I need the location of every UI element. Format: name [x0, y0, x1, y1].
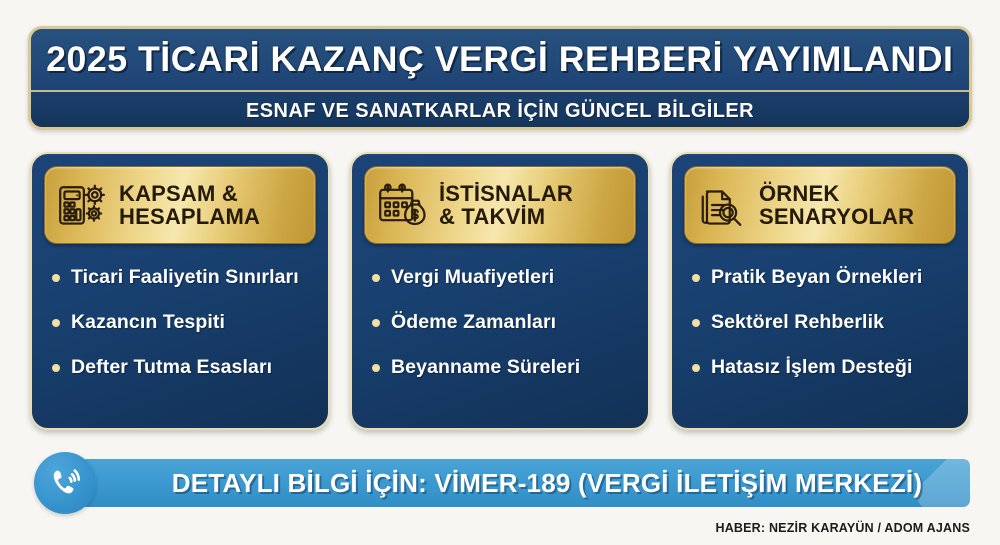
- bullet-dot-icon: [52, 319, 60, 327]
- card-title-line: KAPSAM &: [119, 182, 307, 205]
- list-item: Pratik Beyan Örnekleri: [692, 266, 954, 289]
- list-item: Kazancın Tespiti: [52, 311, 314, 334]
- card-header-badge: ÖRNEK SENARYOLAR: [684, 166, 956, 244]
- bullet-dot-icon: [692, 364, 700, 372]
- list-item-label: Vergi Muafiyetleri: [391, 266, 554, 289]
- card-header-badge: İSTİSNALAR & TAKVİM: [364, 166, 636, 244]
- list-item: Beyanname Süreleri: [372, 356, 634, 379]
- phone-ringing-icon: [34, 452, 96, 514]
- contact-banner-label: DETAYLI BİLGİ İÇİN: VİMER-189 (VERGİ İLE…: [128, 468, 922, 499]
- list-item-label: Kazancın Tespiti: [71, 311, 225, 334]
- list-item: Defter Tutma Esasları: [52, 356, 314, 379]
- card-title: ÖRNEK SENARYOLAR: [759, 182, 947, 229]
- card-title-line: İSTİSNALAR: [439, 182, 627, 205]
- credit-line: HABER: NEZİR KARAYÜN / ADOM AJANS: [715, 521, 970, 535]
- bullet-dot-icon: [372, 319, 380, 327]
- card-header-badge: KAPSAM & HESAPLAMA: [44, 166, 316, 244]
- bullet-dot-icon: [692, 319, 700, 327]
- header-title-row: 2025 TİCARİ KAZANÇ VERGİ REHBERİ YAYIMLA…: [31, 29, 969, 92]
- card-title: KAPSAM & HESAPLAMA: [119, 182, 307, 229]
- list-item-label: Hatasız İşlem Desteği: [711, 356, 913, 379]
- card-ornek-senaryolar: ÖRNEK SENARYOLAR Pratik Beyan Örnekleri …: [670, 152, 970, 430]
- card-kapsam-hesaplama: KAPSAM & HESAPLAMA Ticari Faaliyetin Sın…: [30, 152, 330, 430]
- card-title: İSTİSNALAR & TAKVİM: [439, 182, 627, 229]
- list-item-label: Beyanname Süreleri: [391, 356, 580, 379]
- document-magnifier-icon: [695, 177, 751, 233]
- list-item-label: Ticari Faaliyetin Sınırları: [71, 266, 299, 289]
- page-title: 2025 TİCARİ KAZANÇ VERGİ REHBERİ YAYIMLA…: [46, 40, 953, 80]
- card-istisnalar-takvim: İSTİSNALAR & TAKVİM Vergi Muafiyetleri Ö…: [350, 152, 650, 430]
- card-bullet-list: Vergi Muafiyetleri Ödeme Zamanları Beyan…: [364, 266, 636, 418]
- list-item: Sektörel Rehberlik: [692, 311, 954, 334]
- list-item: Hatasız İşlem Desteği: [692, 356, 954, 379]
- header-subtitle-row: ESNAF VE SANATKARLAR İÇİN GÜNCEL BİLGİLE…: [31, 92, 969, 130]
- list-item-label: Defter Tutma Esasları: [71, 356, 272, 379]
- bullet-dot-icon: [52, 274, 60, 282]
- card-title-line: SENARYOLAR: [759, 205, 947, 228]
- header-panel: 2025 TİCARİ KAZANÇ VERGİ REHBERİ YAYIMLA…: [28, 26, 972, 130]
- card-title-line: & TAKVİM: [439, 205, 627, 228]
- card-title-line: ÖRNEK: [759, 182, 947, 205]
- page-subtitle: ESNAF VE SANATKARLAR İÇİN GÜNCEL BİLGİLE…: [246, 100, 754, 123]
- contact-banner: DETAYLI BİLGİ İÇİN: VİMER-189 (VERGİ İLE…: [34, 452, 970, 514]
- bullet-dot-icon: [372, 364, 380, 372]
- bullet-dot-icon: [52, 364, 60, 372]
- cards-row: KAPSAM & HESAPLAMA Ticari Faaliyetin Sın…: [30, 152, 970, 430]
- calendar-money-bag-icon: [375, 177, 431, 233]
- card-bullet-list: Pratik Beyan Örnekleri Sektörel Rehberli…: [684, 266, 956, 418]
- bullet-dot-icon: [372, 274, 380, 282]
- card-title-line: HESAPLAMA: [119, 205, 307, 228]
- list-item: Vergi Muafiyetleri: [372, 266, 634, 289]
- list-item: Ticari Faaliyetin Sınırları: [52, 266, 314, 289]
- list-item-label: Ödeme Zamanları: [391, 311, 556, 334]
- bullet-dot-icon: [692, 274, 700, 282]
- list-item-label: Sektörel Rehberlik: [711, 311, 884, 334]
- list-item: Ödeme Zamanları: [372, 311, 634, 334]
- list-item-label: Pratik Beyan Örnekleri: [711, 266, 922, 289]
- card-bullet-list: Ticari Faaliyetin Sınırları Kazancın Tes…: [44, 266, 316, 418]
- calculator-gears-icon: [55, 177, 111, 233]
- contact-banner-bar: DETAYLI BİLGİ İÇİN: VİMER-189 (VERGİ İLE…: [80, 459, 970, 507]
